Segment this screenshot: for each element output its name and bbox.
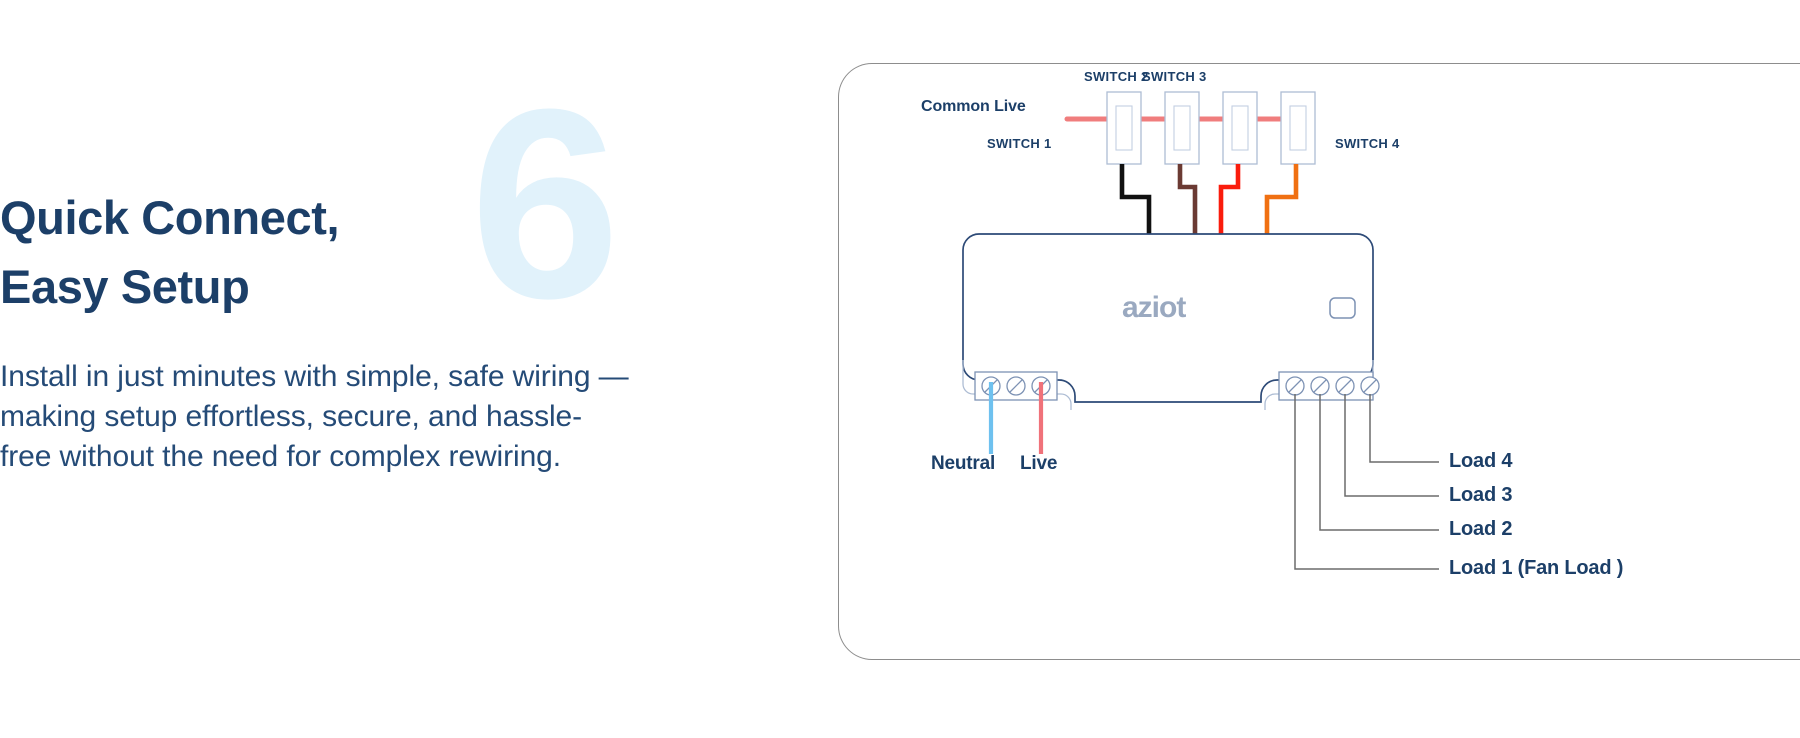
input-terminal-block: [975, 372, 1057, 400]
live-label: Live: [1020, 453, 1057, 475]
switch-wire-orange: [1267, 164, 1296, 234]
switch-plate-1: [1107, 92, 1141, 164]
wiring-diagram-card: Common Live SWITCH 1 SWITCH 2 SWITCH 3 S…: [838, 63, 1800, 660]
switch-2-label: SWITCH 2: [1084, 69, 1149, 84]
copy-panel: 6 Quick Connect, Easy Setup Install in j…: [0, 0, 760, 738]
load-4-leader: [1370, 394, 1439, 462]
page-title: Quick Connect, Easy Setup: [0, 183, 560, 321]
switch-plate-4: [1281, 92, 1315, 164]
load-terminal-block: [1279, 372, 1379, 400]
switch-3-label: SWITCH 3: [1142, 69, 1207, 84]
switch-wire-red: [1221, 164, 1238, 234]
body-line-1: Install in just minutes with simple, saf…: [0, 357, 660, 397]
switch-4-label: SWITCH 4: [1335, 136, 1400, 151]
body-line-3: free without the need for complex rewiri…: [0, 437, 660, 477]
switch-1-label: SWITCH 1: [987, 136, 1052, 151]
neutral-label: Neutral: [931, 453, 995, 475]
load-screw-2: [1311, 377, 1329, 395]
load-screw-3: [1336, 377, 1354, 395]
load-3-label: Load 3: [1449, 484, 1512, 507]
load-2-label: Load 2: [1449, 518, 1512, 541]
load-1-leader: [1295, 394, 1439, 569]
load-3-leader: [1345, 394, 1439, 496]
device-reset-button: [1330, 298, 1355, 318]
body-paragraph: Install in just minutes with simple, saf…: [0, 357, 660, 477]
aziot-logo: aziot: [1122, 291, 1185, 325]
switch-wire-black: [1122, 164, 1149, 234]
load-4-label: Load 4: [1449, 450, 1512, 473]
wiring-diagram-svg: [839, 64, 1800, 660]
switch-plate-3: [1223, 92, 1257, 164]
switch-wire-brown: [1180, 164, 1195, 234]
headline-line-2: Easy Setup: [0, 252, 560, 321]
slide-root: 6 Quick Connect, Easy Setup Install in j…: [0, 0, 1800, 738]
common-live-label: Common Live: [921, 98, 1026, 116]
load-screw-1: [1286, 377, 1304, 395]
load-1-label: Load 1 (Fan Load ): [1449, 557, 1623, 580]
headline-line-1: Quick Connect,: [0, 183, 560, 252]
load-screw-4: [1361, 377, 1379, 395]
body-line-2: making setup effortless, secure, and has…: [0, 397, 660, 437]
switch-plate-2: [1165, 92, 1199, 164]
terminal-screw-unused: [1007, 377, 1025, 395]
